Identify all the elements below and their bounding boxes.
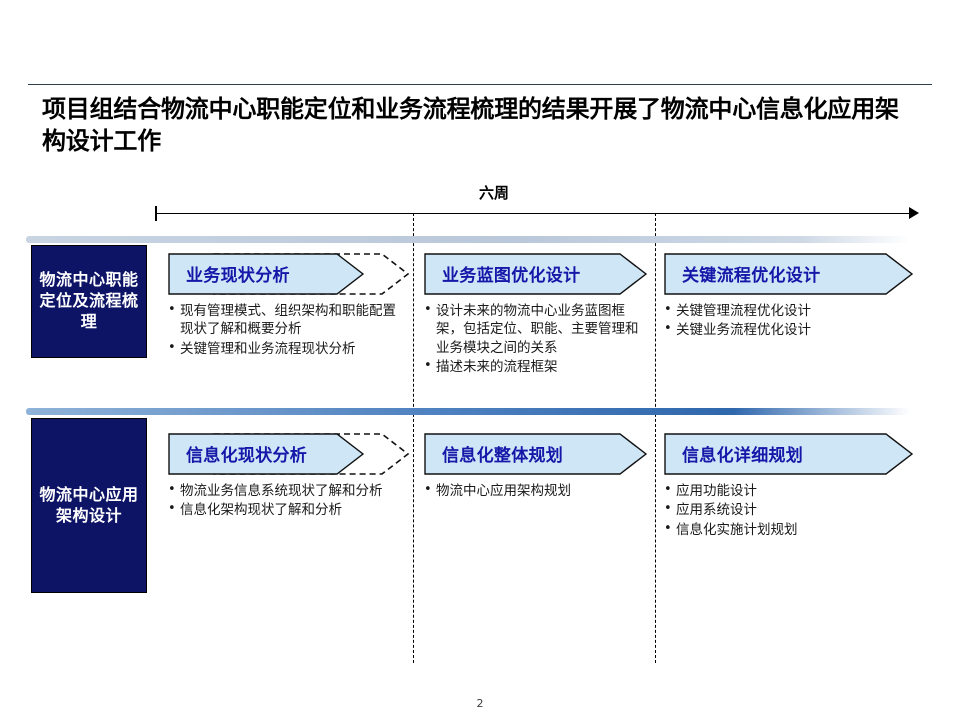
phase-card-r2c1: 信息化现状分析 物流业务信息系统现状了解和分析 信息化架构现状了解和分析 — [168, 432, 406, 521]
bullet-list-r1c2: 设计未来的物流中心业务蓝图框架，包括定位、职能、主要管理和业务模块之间的关系 描… — [424, 302, 648, 376]
timeline-arrow-icon — [909, 207, 919, 219]
band-separator-middle — [26, 408, 910, 415]
chevron-label-r2c2: 信息化整体规划 — [442, 432, 563, 474]
list-item: 应用功能设计 — [664, 482, 914, 500]
phase-divider-1 — [413, 213, 414, 663]
chevron-label-r2c3: 信息化详细规划 — [682, 432, 803, 474]
phase-divider-2 — [655, 213, 656, 663]
chevron-r1c2[interactable]: 业务蓝图优化设计 — [424, 252, 648, 294]
chevron-label-r2c1: 信息化现状分析 — [186, 432, 307, 474]
list-item: 物流业务信息系统现状了解和分析 — [168, 482, 406, 500]
phase-card-r1c1: 业务现状分析 现有管理模式、组织架构和职能配置现状了解和概要分析 关键管理和业务… — [168, 252, 406, 359]
chevron-r2c3[interactable]: 信息化详细规划 — [664, 432, 914, 474]
bullet-list-r2c2: 物流中心应用架构规划 — [424, 482, 648, 500]
row-label-business: 物流中心职能定位及流程梳理 — [31, 245, 147, 358]
chevron-r2c1[interactable]: 信息化现状分析 — [168, 432, 406, 474]
timeline-duration-text: 六周 — [479, 184, 509, 202]
list-item: 信息化架构现状了解和分析 — [168, 501, 406, 519]
phase-card-r2c2: 信息化整体规划 物流中心应用架构规划 — [424, 432, 648, 501]
timeline-axis — [156, 213, 916, 214]
bullet-list-r1c3: 关键管理流程优化设计 关键业务流程优化设计 — [664, 302, 914, 340]
timeline-duration-label: 六周 — [0, 182, 960, 203]
row-label-business-text: 物流中心职能定位及流程梳理 — [32, 270, 146, 332]
list-item: 关键管理和业务流程现状分析 — [168, 340, 406, 358]
bullet-list-r2c1: 物流业务信息系统现状了解和分析 信息化架构现状了解和分析 — [168, 482, 406, 520]
header-divider-rule — [28, 84, 932, 85]
chevron-label-r1c3: 关键流程优化设计 — [682, 252, 820, 294]
bullet-list-r1c1: 现有管理模式、组织架构和职能配置现状了解和概要分析 关键管理和业务流程现状分析 — [168, 302, 406, 358]
band-separator-top — [26, 236, 910, 243]
chevron-r1c3[interactable]: 关键流程优化设计 — [664, 252, 914, 294]
list-item: 物流中心应用架构规划 — [424, 482, 648, 500]
page-number: 2 — [0, 697, 960, 710]
list-item: 现有管理模式、组织架构和职能配置现状了解和概要分析 — [168, 302, 406, 339]
list-item: 信息化实施计划规划 — [664, 521, 914, 539]
list-item: 设计未来的物流中心业务蓝图框架，包括定位、职能、主要管理和业务模块之间的关系 — [424, 302, 648, 357]
page-title: 项目组结合物流中心职能定位和业务流程梳理的结果开展了物流中心信息化应用架构设计工… — [42, 94, 922, 157]
row-label-architecture-text: 物流中心应用架构设计 — [32, 485, 146, 527]
chevron-r1c1[interactable]: 业务现状分析 — [168, 252, 406, 294]
slide-canvas: 项目组结合物流中心职能定位和业务流程梳理的结果开展了物流中心信息化应用架构设计工… — [0, 0, 960, 720]
chevron-label-r1c1: 业务现状分析 — [186, 252, 290, 294]
chevron-r2c2[interactable]: 信息化整体规划 — [424, 432, 648, 474]
row-label-architecture: 物流中心应用架构设计 — [31, 418, 147, 593]
list-item: 描述未来的流程框架 — [424, 358, 648, 376]
phase-card-r1c3: 关键流程优化设计 关键管理流程优化设计 关键业务流程优化设计 — [664, 252, 914, 341]
list-item: 关键管理流程优化设计 — [664, 302, 914, 320]
list-item: 关键业务流程优化设计 — [664, 321, 914, 339]
phase-card-r2c3: 信息化详细规划 应用功能设计 应用系统设计 信息化实施计划规划 — [664, 432, 914, 540]
chevron-label-r1c2: 业务蓝图优化设计 — [442, 252, 580, 294]
bullet-list-r2c3: 应用功能设计 应用系统设计 信息化实施计划规划 — [664, 482, 914, 539]
list-item: 应用系统设计 — [664, 501, 914, 519]
phase-card-r1c2: 业务蓝图优化设计 设计未来的物流中心业务蓝图框架，包括定位、职能、主要管理和业务… — [424, 252, 648, 377]
